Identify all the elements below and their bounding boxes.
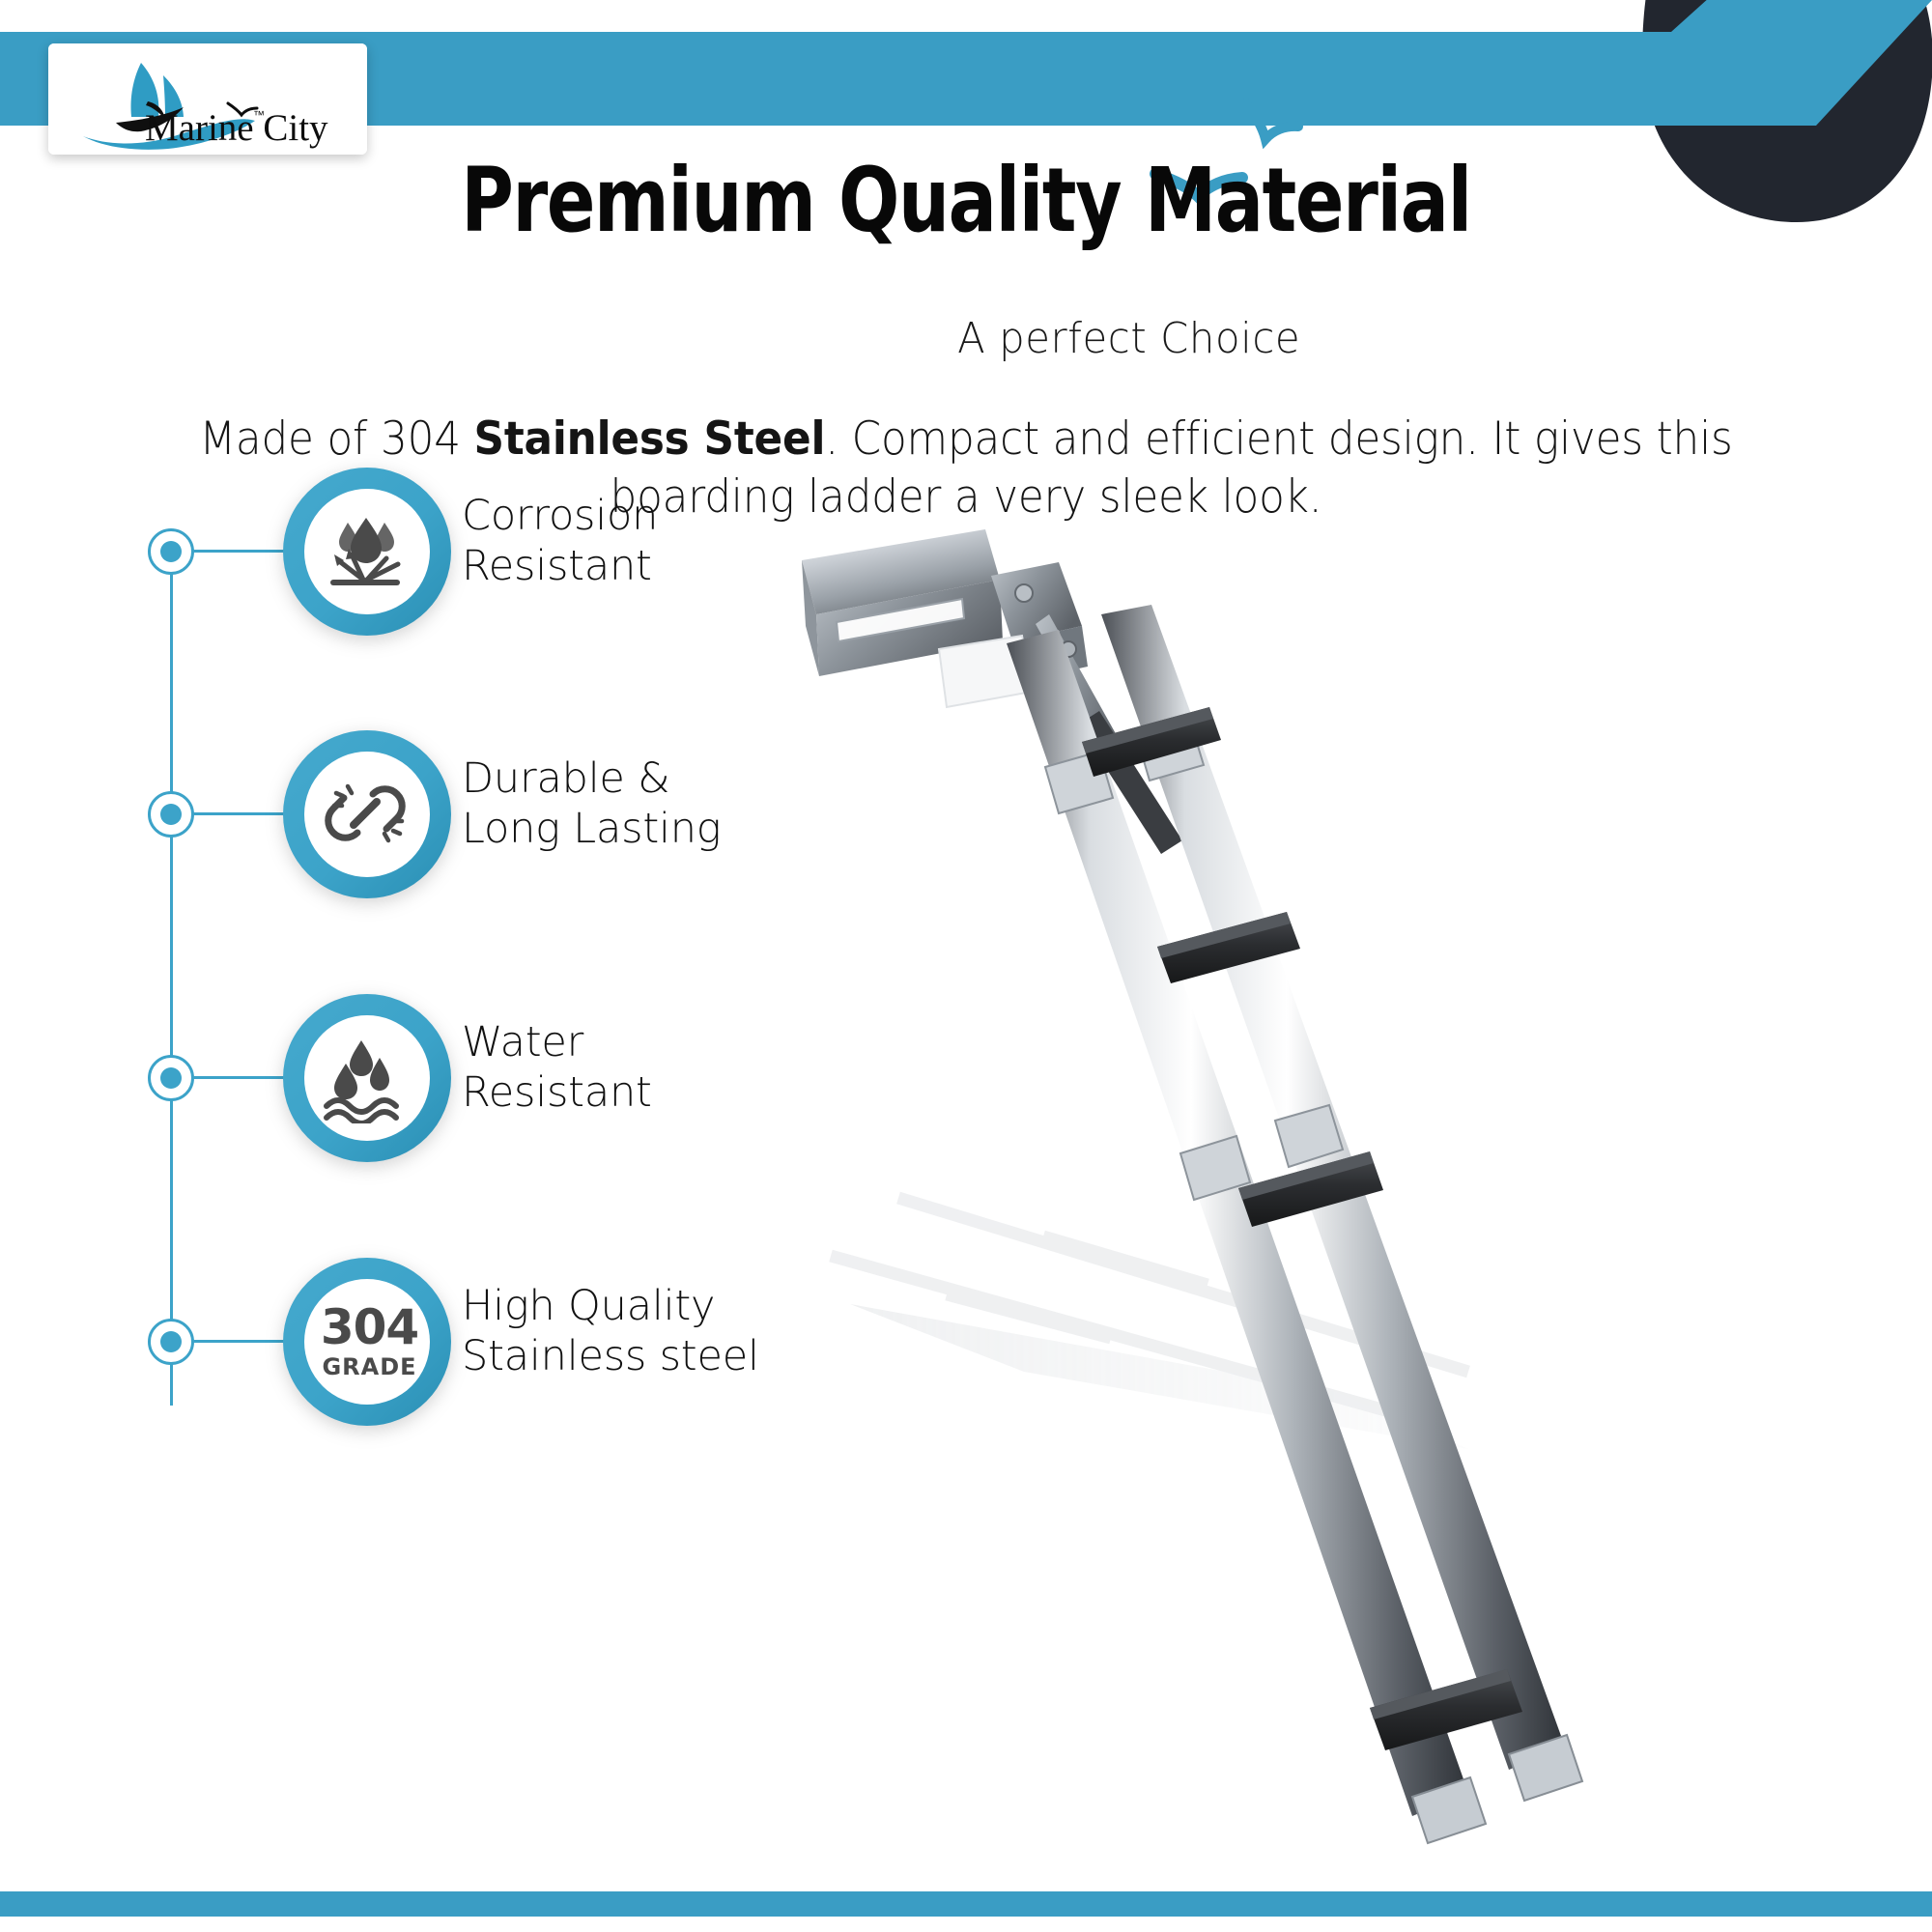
rail-bullet-icon — [148, 1319, 194, 1365]
grade-number: 304 — [321, 1303, 418, 1351]
water-repellent-surface-icon — [319, 504, 412, 597]
water-droplets-waves-icon — [319, 1031, 412, 1123]
feature-pin-badge — [263, 450, 451, 653]
feature-rail: Corrosion Resistant — [0, 454, 869, 1575]
bottom-decoration-bar — [0, 1874, 1932, 1932]
grade-304-badge-icon: 304 GRADE — [263, 1240, 451, 1443]
feature-item[interactable]: Water Resistant — [0, 980, 869, 1183]
infographic-page: Marine City ™ Premium Quality Material A… — [0, 0, 1932, 1932]
rail-bullet-icon — [148, 791, 194, 838]
feature-pin-badge — [263, 713, 451, 916]
brand-wordmark: Marine City — [145, 107, 328, 149]
broken-chain-link-icon — [319, 767, 412, 860]
feature-pin-badge: 304 GRADE — [263, 1240, 451, 1443]
rail-bullet-icon — [148, 1055, 194, 1101]
product-image — [792, 522, 1874, 1874]
trademark-symbol: ™ — [253, 108, 265, 122]
rail-bullet-icon — [148, 528, 194, 575]
feature-item[interactable]: Corrosion Resistant — [0, 454, 869, 657]
page-title: Premium Quality Material — [97, 153, 1835, 248]
page-subtitle: A perfect Choice — [48, 314, 1884, 363]
feature-item[interactable]: 304 GRADE High Quality Stainless steel — [0, 1244, 869, 1447]
grade-word: GRADE — [322, 1353, 416, 1380]
brand-logo-card: Marine City ™ — [48, 43, 367, 155]
feature-item[interactable]: Durable & Long Lasting — [0, 717, 869, 920]
feature-pin-badge — [263, 977, 451, 1179]
footer-blue-bar — [0, 1891, 1932, 1917]
